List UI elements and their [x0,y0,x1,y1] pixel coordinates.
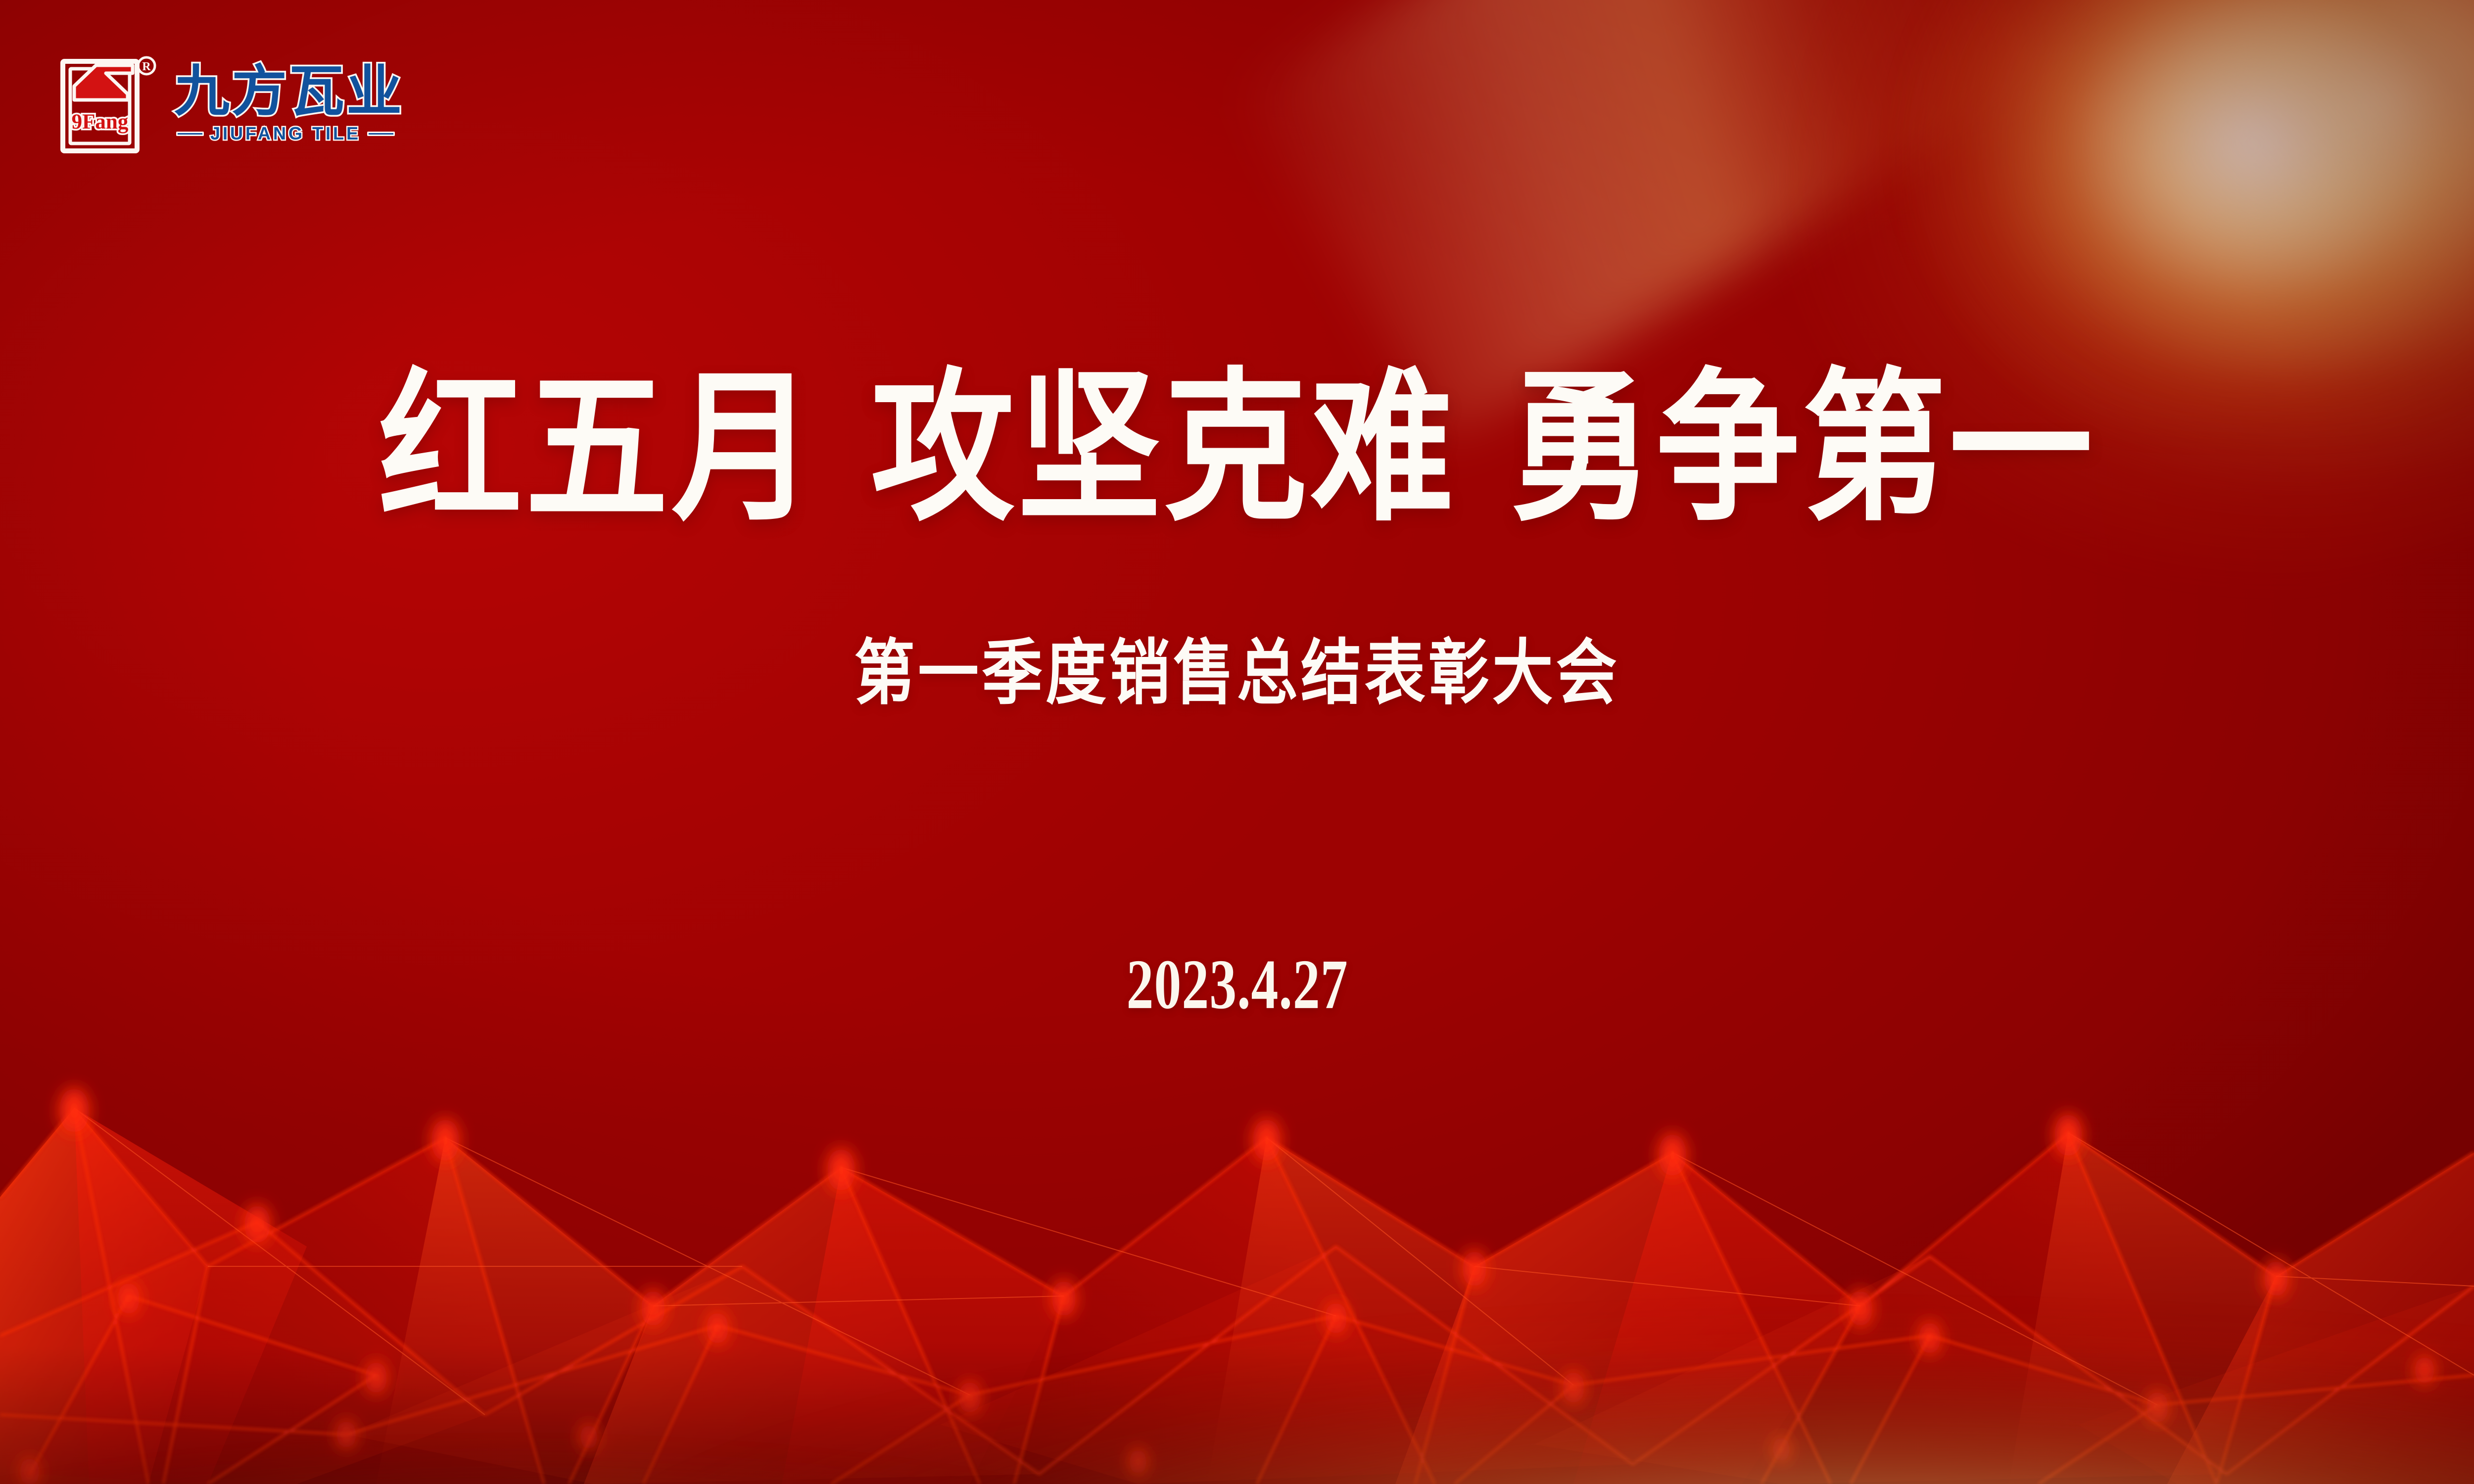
headline: 红五月 攻坚克难 勇争第一 [0,367,2474,510]
subtitle-text: 第一季度销售总结表彰大会 [854,637,1620,708]
event-date: 2023.4.27 [0,949,2474,1012]
logo-dash-right-icon [367,132,395,136]
logo-company-name-cn: 九方瓦业 [174,64,404,119]
logo-dash-left-icon [176,132,204,136]
bottom-golden-haze [0,1237,2474,1484]
company-logo: R 9Fang 九方瓦业 JIUFANG TILE [58,50,404,155]
headline-text: 红五月 攻坚克难 勇争第一 [379,367,2095,531]
presentation-slide: R 9Fang 九方瓦业 JIUFANG TILE 红五月 攻坚克难 勇争第一 … [0,0,2474,1484]
svg-text:R: R [142,60,151,73]
logo-wordmark: 九方瓦业 JIUFANG TILE [174,62,404,144]
subtitle: 第一季度销售总结表彰大会 [0,637,2474,696]
logo-company-name-en: JIUFANG TILE [210,123,361,144]
logo-company-name-en-row: JIUFANG TILE [174,123,404,144]
9fang-house-mark-icon: R 9Fang [58,50,161,155]
event-date-text: 2023.4.27 [1126,949,1348,1020]
9fang-mark-text: 9Fang [72,110,129,134]
